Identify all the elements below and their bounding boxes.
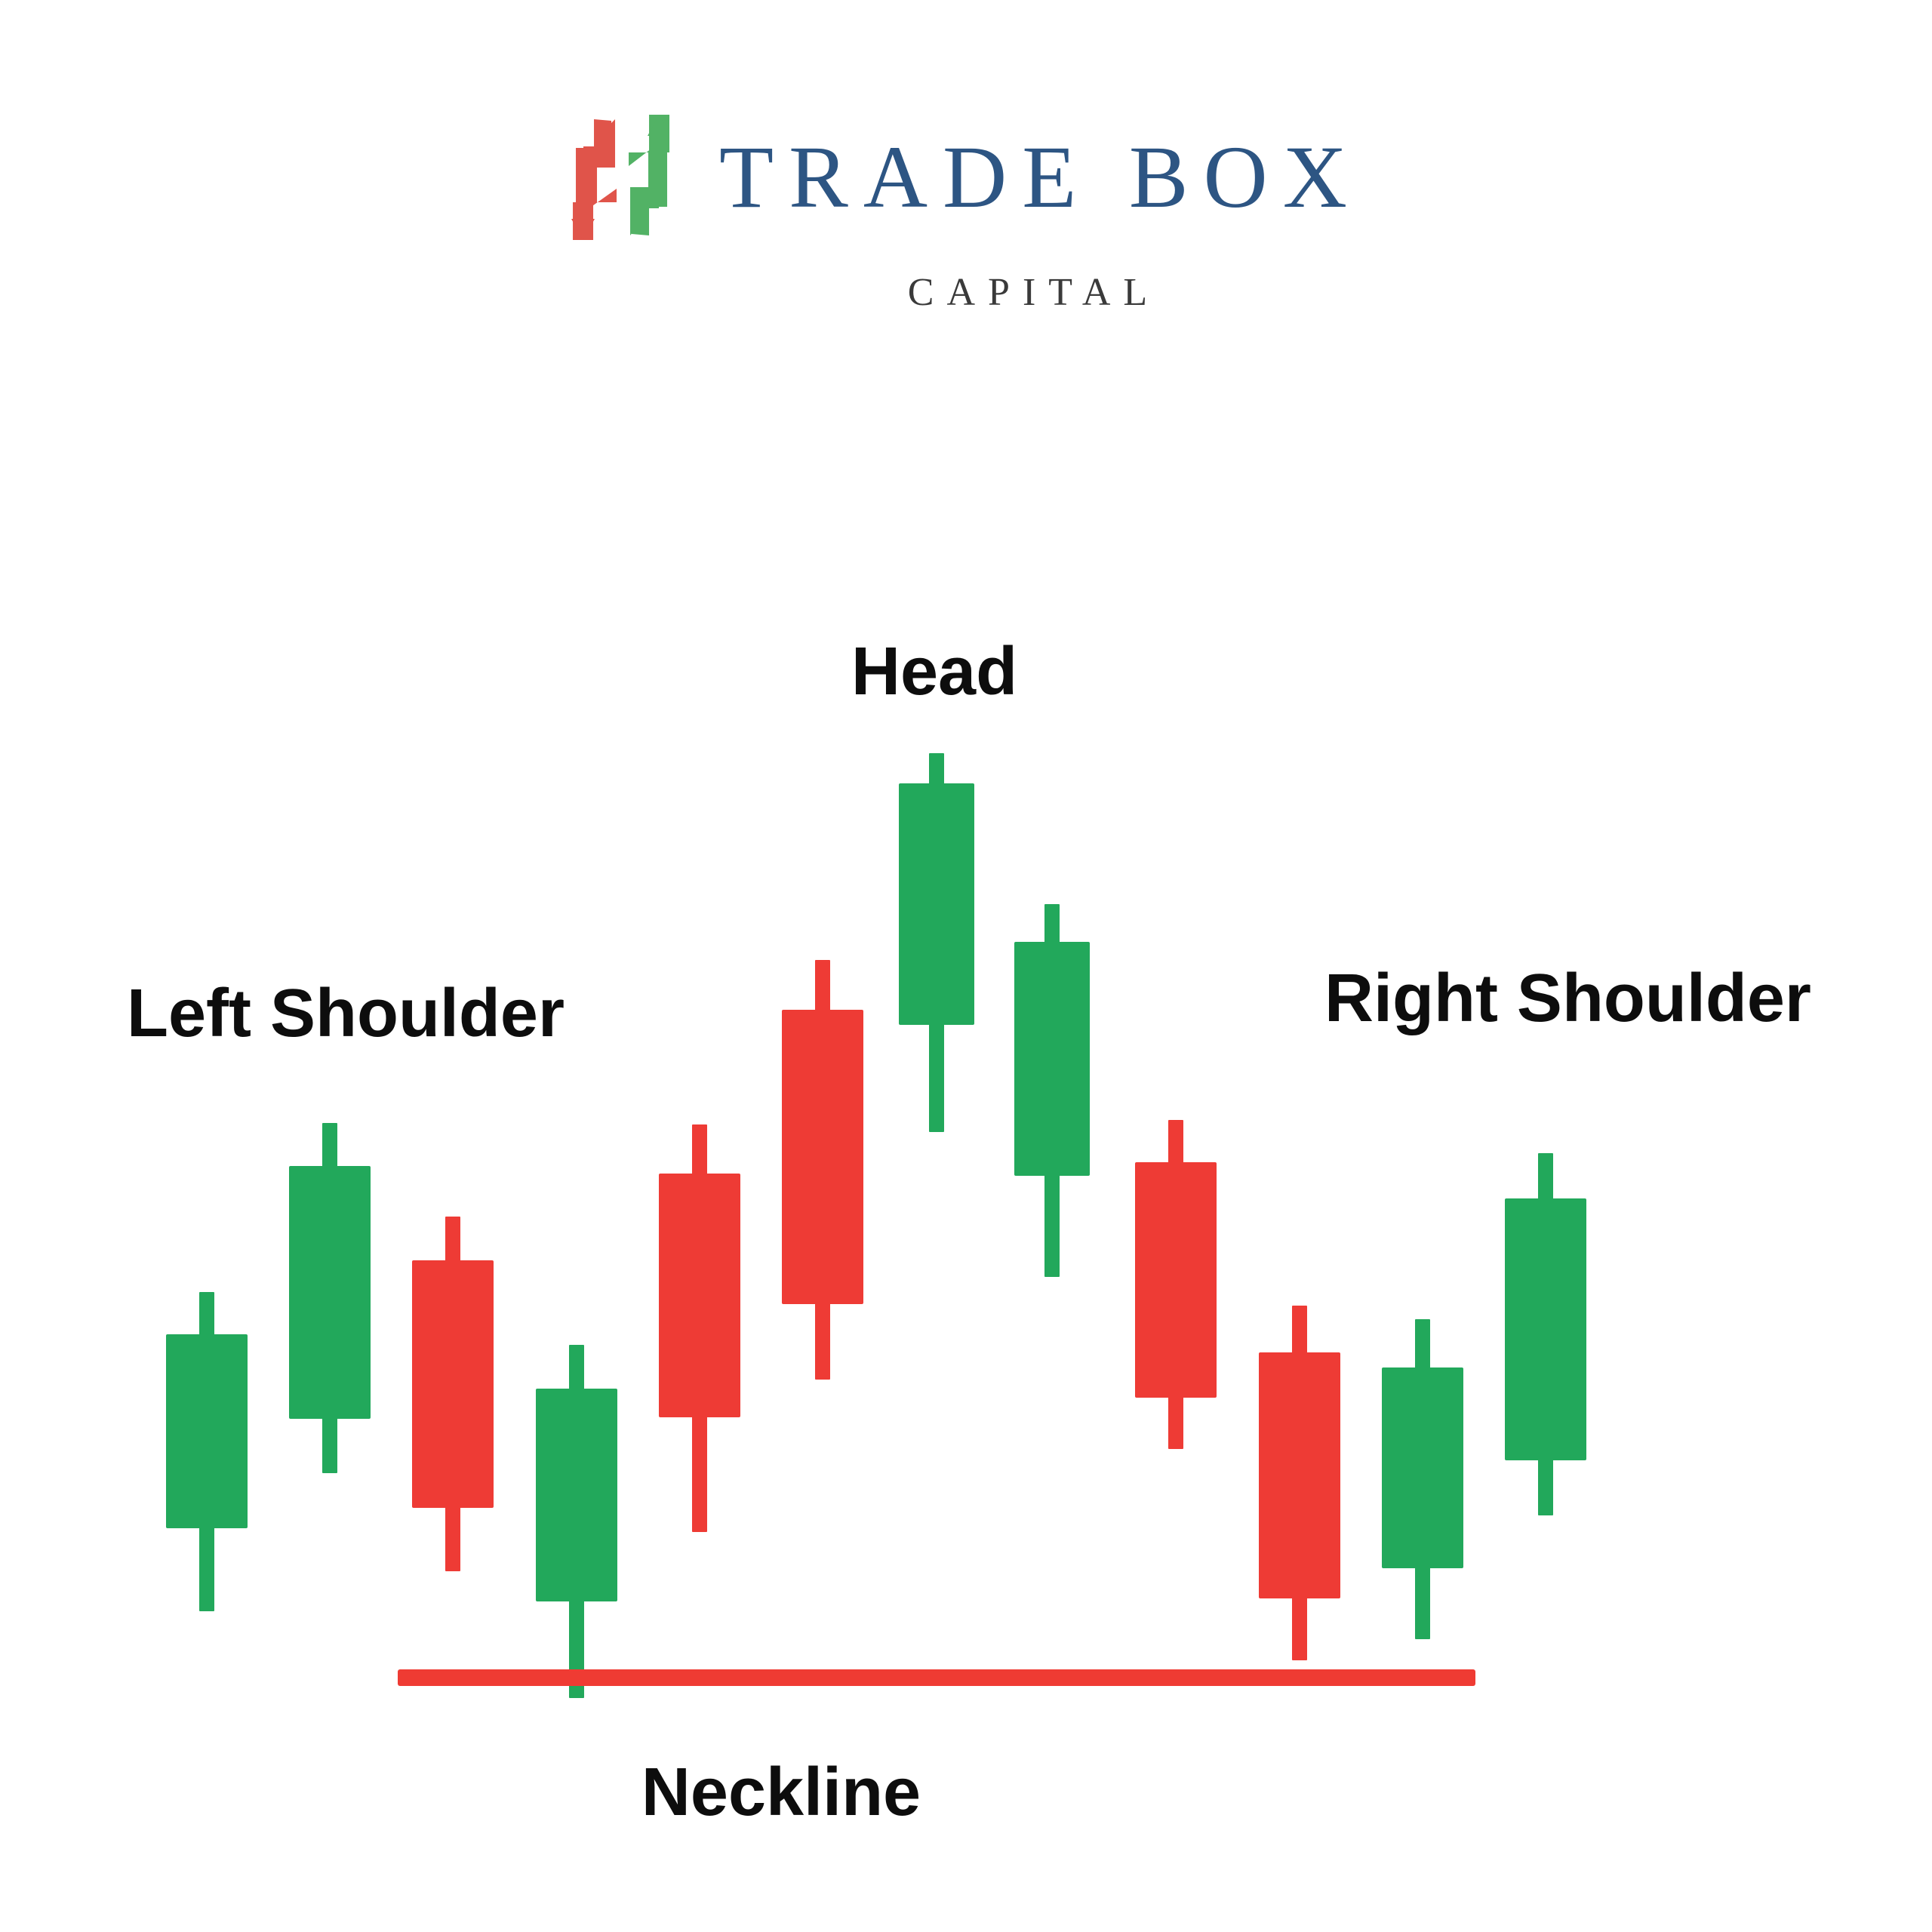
candle-body <box>1382 1367 1463 1568</box>
candle-body <box>1014 942 1090 1176</box>
annotation-right-shoulder: Right Shoulder <box>1324 964 1811 1032</box>
candlestick-10-bear <box>1259 1306 1340 1660</box>
candle-body <box>412 1260 494 1508</box>
candlestick-5-bear <box>659 1124 740 1532</box>
candlestick-chart: Left Shoulder Head Right Shoulder Neckli… <box>0 0 1932 1932</box>
candlestick-8-bull <box>1014 904 1090 1277</box>
candlestick-1-bull <box>166 1292 248 1611</box>
candlestick-9-bear <box>1135 1120 1217 1449</box>
candle-body <box>536 1389 617 1601</box>
candlestick-2-bull <box>289 1123 371 1473</box>
candlestick-12-bull <box>1505 1153 1586 1515</box>
candle-body <box>166 1334 248 1528</box>
candle-body <box>899 783 974 1025</box>
annotation-head: Head <box>851 638 1017 706</box>
candle-body <box>782 1010 863 1304</box>
candle-body <box>289 1166 371 1419</box>
neckline-level <box>398 1669 1475 1686</box>
candle-body <box>1135 1162 1217 1398</box>
candlestick-4-bull <box>536 1345 617 1698</box>
candle-body <box>1505 1198 1586 1460</box>
candlestick-3-bear <box>412 1217 494 1571</box>
candlestick-6-bear <box>782 960 863 1380</box>
candlestick-11-bull <box>1382 1319 1463 1639</box>
candle-body <box>659 1174 740 1417</box>
annotation-neckline: Neckline <box>641 1758 921 1826</box>
candlestick-7-bull <box>899 753 974 1132</box>
candle-body <box>1259 1352 1340 1598</box>
annotation-left-shoulder: Left Shoulder <box>127 980 565 1048</box>
